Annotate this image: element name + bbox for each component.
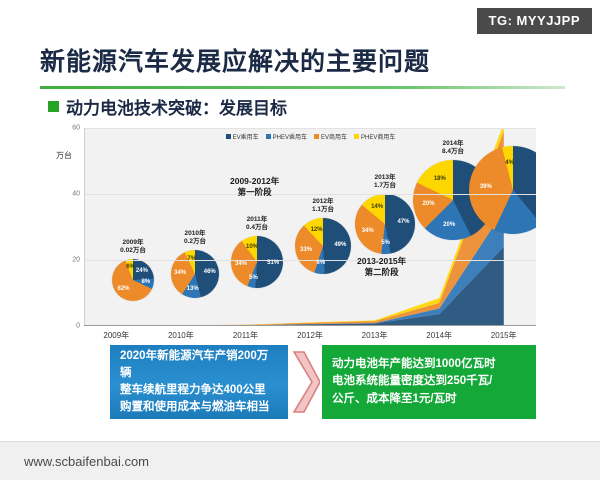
goal-line: 购置和使用成本与燃油车相当	[120, 399, 278, 416]
section-subtitle-label: 动力电池技术突破：发展目标	[66, 94, 287, 119]
stage-phase: 第一阶段	[238, 187, 272, 197]
pie-caption-year: 2012年	[313, 198, 334, 205]
y-tick-label: 60	[72, 125, 80, 132]
legend-label: EV商用车	[321, 132, 347, 141]
stage-phase: 第二阶段	[365, 267, 399, 277]
pie-slice-label: 24%	[136, 268, 148, 274]
pie-slice-label: 6%	[316, 260, 325, 266]
pie-slice-label: 14%	[371, 204, 383, 210]
x-tick-label: 2010年	[168, 330, 194, 341]
pie-caption-year: 2009年	[123, 239, 144, 246]
stage-2: 2013-2015年第二阶段	[357, 256, 406, 279]
pie-slice-label: 62%	[117, 286, 129, 292]
pie-slice-label: 34%	[174, 270, 186, 276]
gridline	[85, 128, 536, 129]
y-tick-label: 20	[72, 257, 80, 264]
pie-slice-label: 8%	[141, 279, 150, 285]
pie-slice-label: 46%	[204, 269, 216, 275]
goal-line: 整车续航里程力争达400公里	[120, 382, 278, 399]
goal-box-battery: 动力电池年产能达到1000亿瓦时电池系统能量密度达到250千瓦/公斤、成本降至1…	[322, 345, 536, 419]
pie-slice-label: 39%	[480, 184, 492, 190]
pie-caption: 2014年8.4万台	[415, 140, 491, 156]
watermark-tag: TG: MYYJJPP	[477, 8, 592, 34]
pie-caption-total: 8.4万台	[442, 148, 464, 155]
x-tick-label: 2013年	[362, 330, 388, 341]
arrow-icon	[292, 350, 320, 414]
goal-line: 公斤、成本降至1元/瓦时	[332, 391, 526, 408]
pie-slice-label: 5%	[381, 240, 390, 246]
page-title: 新能源汽车发展应解决的主要问题	[40, 42, 430, 78]
legend-label: EV乘用车	[233, 132, 259, 141]
chart-legend: EV乘用车PHEV乘用车EV商用车PHEV商用车	[85, 132, 536, 141]
stage-1: 2009-2012年第一阶段	[230, 176, 279, 199]
pie-slice-label: 10%	[246, 244, 258, 250]
pie-caption: 2011年0.4万台	[219, 216, 295, 232]
stage-range: 2013-2015年	[357, 256, 406, 266]
title-divider	[40, 86, 565, 89]
pie-caption-year: 2013年	[375, 174, 396, 181]
legend-swatch-icon	[314, 134, 319, 139]
pie-caption-total: 0.4万台	[246, 224, 268, 231]
pie-caption: 2010年0.2万台	[157, 230, 233, 246]
footer-bar: www.scbaifenbai.com	[0, 442, 600, 480]
site-url: www.scbaifenbai.com	[24, 454, 149, 469]
chart-area: 24%8%62%6%2009年0.02万台46%13%34%7%2010年0.2…	[84, 128, 536, 326]
pie-caption-year: 2014年	[443, 140, 464, 147]
pie-caption: 2013年1.7万台	[347, 174, 423, 190]
section-subtitle: 动力电池技术突破：发展目标	[48, 94, 287, 119]
pie-slice-label: 12%	[311, 227, 323, 233]
pie-caption-year: 2010年	[185, 230, 206, 237]
legend-label: PHEV商用车	[361, 132, 395, 141]
pie-slice-label: 6%	[126, 264, 135, 270]
pie-slice-label: 47%	[398, 219, 410, 225]
y-tick-label: 0	[76, 323, 80, 330]
square-bullet-icon	[48, 101, 59, 112]
legend-swatch-icon	[226, 134, 231, 139]
x-axis-line	[84, 325, 536, 326]
goal-line: 动力电池年产能达到1000亿瓦时	[332, 356, 526, 373]
y-axis: 0204060	[58, 128, 82, 326]
legend-item-2[interactable]: EV商用车	[314, 132, 347, 141]
pie-caption-total: 0.02万台	[120, 247, 146, 254]
pie-slice-label: 20%	[443, 222, 455, 228]
stage-range: 2009-2012年	[230, 176, 279, 186]
x-tick-label: 2009年	[103, 330, 129, 341]
plot-region: 24%8%62%6%2009年0.02万台46%13%34%7%2010年0.2…	[85, 128, 536, 326]
legend-item-3[interactable]: PHEV商用车	[354, 132, 395, 141]
pie-slice-label: 20%	[423, 201, 435, 207]
pie-slice-label: 18%	[434, 176, 446, 182]
legend-swatch-icon	[266, 134, 271, 139]
legend-item-0[interactable]: EV乘用车	[226, 132, 259, 141]
pie-caption-year: 2011年	[247, 216, 268, 223]
pie-caption-total: 1.1万台	[312, 206, 334, 213]
goal-line: 电池系统能量密度达到250千瓦/	[332, 373, 526, 390]
y-tick-label: 40	[72, 191, 80, 198]
pie-slice-label: 34%	[362, 228, 374, 234]
pie-slice-label: 33%	[300, 247, 312, 253]
x-tick-label: 2014年	[426, 330, 452, 341]
x-tick-label: 2015年	[491, 330, 517, 341]
goal-box-vehicle: 2020年新能源汽车产销200万辆整车续航里程力争达400公里购置和使用成本与燃…	[110, 345, 288, 419]
pie-caption-total: 0.2万台	[184, 238, 206, 245]
pie-caption-total: 1.7万台	[374, 182, 396, 189]
pie-slice-label: 49%	[334, 242, 346, 248]
legend-item-1[interactable]: PHEV乘用车	[266, 132, 307, 141]
x-tick-label: 2012年	[297, 330, 323, 341]
pie-slice-label: 4%	[505, 160, 514, 166]
pie-slice-label: 5%	[249, 275, 258, 281]
gridline	[85, 194, 536, 195]
legend-label: PHEV乘用车	[273, 132, 307, 141]
goal-line: 2020年新能源汽车产销200万辆	[120, 348, 278, 383]
pie-slice-label: 34%	[235, 261, 247, 267]
pie-slice-label: 13%	[187, 286, 199, 292]
legend-swatch-icon	[354, 134, 359, 139]
gridline	[85, 260, 536, 261]
x-tick-label: 2011年	[233, 330, 258, 341]
pie-caption: 2012年1.1万台	[285, 198, 361, 214]
